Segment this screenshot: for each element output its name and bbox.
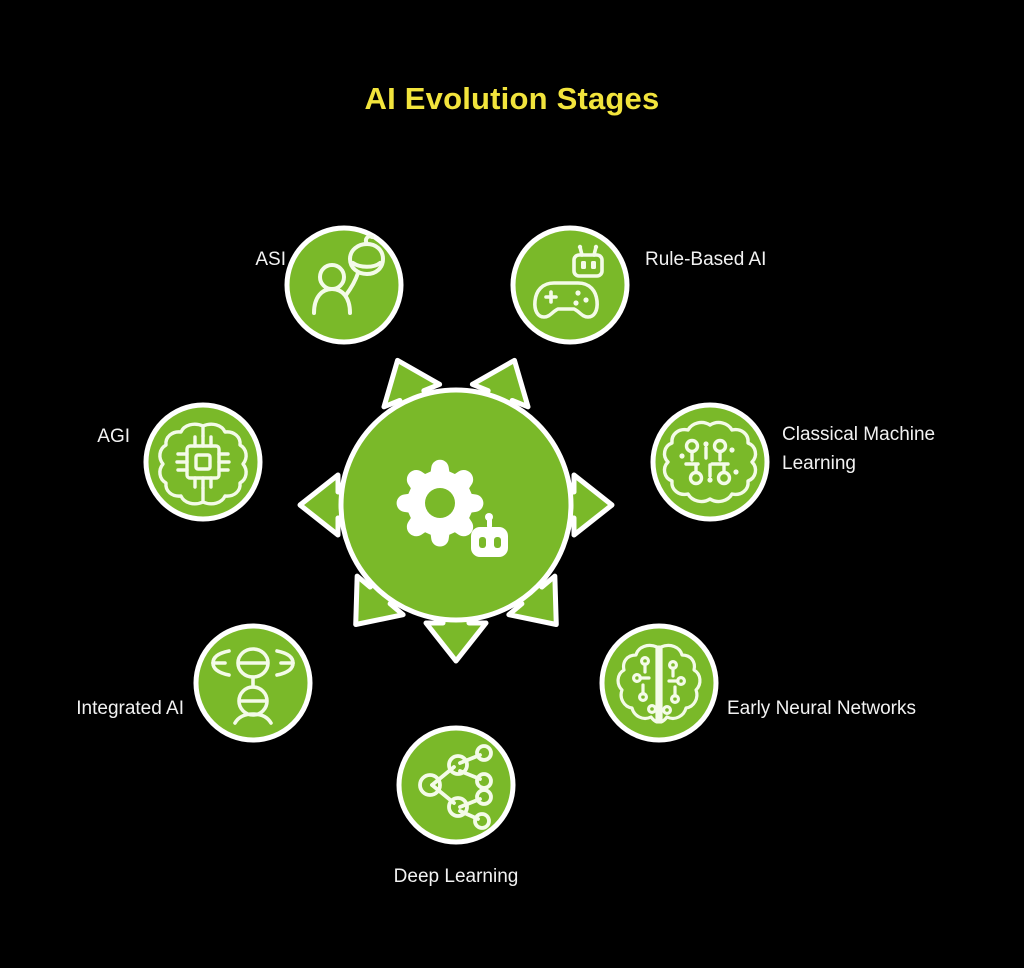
node-classical-machine-learning[interactable] (653, 405, 767, 519)
node-classical-machine-learning-circle (653, 405, 767, 519)
node-integrated-ai[interactable] (196, 626, 310, 740)
node-asi[interactable] (287, 228, 401, 342)
node-label-classical-machine-learning: Classical Machine Learning (782, 420, 997, 478)
node-asi-circle (287, 228, 401, 342)
node-label-early-neural-networks: Early Neural Networks (727, 694, 987, 723)
node-agi[interactable] (146, 405, 260, 519)
center-hub[interactable] (341, 390, 571, 620)
node-label-integrated-ai: Integrated AI (22, 694, 184, 723)
node-label-deep-learning: Deep Learning (330, 862, 582, 891)
node-rule-based-ai[interactable] (513, 228, 627, 342)
infographic-root: AI Evolution Stages (0, 0, 1024, 968)
node-label-rule-based-ai: Rule-Based AI (645, 245, 875, 274)
node-label-asi: ASI (196, 245, 286, 274)
diagram-svg (0, 0, 1024, 968)
node-deep-learning[interactable] (399, 728, 513, 842)
node-rule-based-ai-circle (513, 228, 627, 342)
node-label-agi: AGI (58, 422, 130, 451)
node-early-neural-networks[interactable] (602, 626, 716, 740)
diagram-stage (0, 0, 1024, 968)
node-deep-learning-circle (399, 728, 513, 842)
